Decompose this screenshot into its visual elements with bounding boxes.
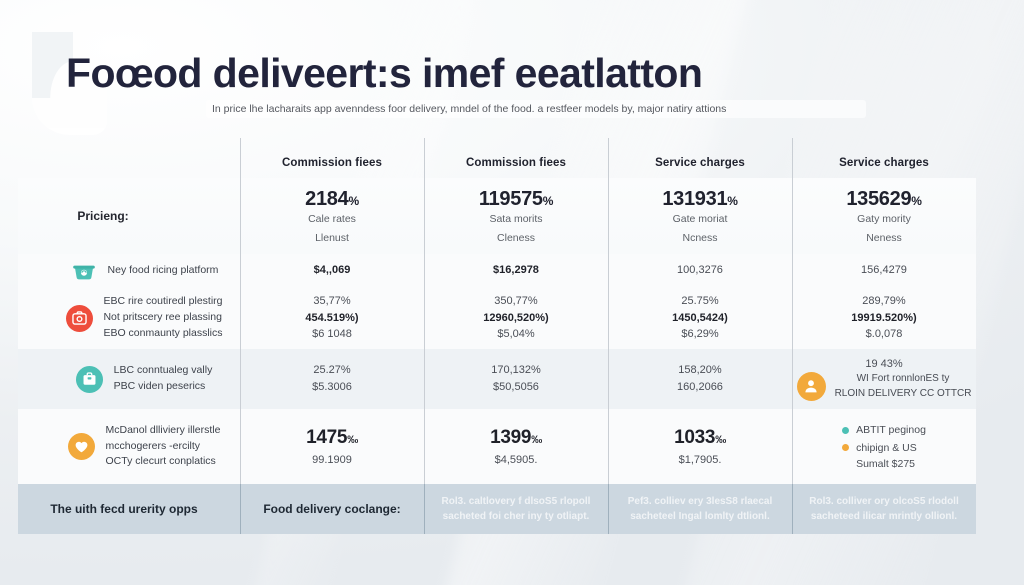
stat-subtitle-2: Ncness bbox=[682, 232, 717, 244]
percent-unit: % bbox=[543, 194, 553, 208]
value-list: 25.27% $5.3006 bbox=[312, 363, 352, 395]
value: 25.27% bbox=[313, 363, 350, 378]
page-title: Foœod deliveert:s imef eeatlatton bbox=[66, 50, 702, 97]
footer-cell-label: Food delivery coclange: bbox=[263, 502, 400, 516]
legend-label: ABTIT peginog bbox=[856, 423, 926, 437]
data-cell: 25.27% $5.3006 bbox=[240, 349, 424, 409]
column-header-label: Commission fiees bbox=[466, 157, 566, 169]
legend-dot-icon bbox=[842, 444, 849, 451]
stats-cell-2: 119575% Sata morits Cleness bbox=[424, 178, 608, 254]
value: 1450,5424) bbox=[672, 311, 728, 326]
data-cell: 156,4279 bbox=[792, 254, 976, 287]
value: $16,2978 bbox=[493, 263, 539, 278]
row-label-lines: LBC conntualeg vally PBC viden peserics bbox=[114, 364, 213, 394]
value-list: 1399‰ $4,5905. bbox=[490, 425, 542, 467]
page-subtitle: In price lhe lacharaits app avenndess fo… bbox=[206, 100, 866, 118]
table-header-row: Commission fiees Commission fiees Servic… bbox=[18, 138, 976, 178]
permille-unit: ‰ bbox=[531, 434, 542, 446]
data-cell: 25.75% 1450,5424) $6,29% bbox=[608, 287, 792, 349]
value: 170,132% bbox=[491, 363, 541, 378]
value-list: $16,2978 bbox=[493, 263, 539, 278]
stat-subtitle-2: Neness bbox=[866, 232, 902, 244]
value: 454.519%) bbox=[305, 311, 358, 326]
row-label-cell: McDanol dlliviery illerstle mcchogerers … bbox=[18, 409, 240, 484]
row-icon bbox=[65, 304, 93, 332]
poster-canvas: Foœod deliveert:s imef eeatlatton In pri… bbox=[0, 0, 1024, 585]
value-list: 158,20% 160,2066 bbox=[677, 363, 723, 395]
legend-dot-icon bbox=[842, 427, 849, 434]
data-cell: 158,20% 160,2066 bbox=[608, 349, 792, 409]
stat-subtitle: Cale rates bbox=[308, 213, 356, 225]
row-label-line: OCTy clecurt conplatics bbox=[106, 455, 221, 469]
value-list: 19 43% bbox=[865, 357, 902, 372]
value: $4,5905. bbox=[495, 453, 538, 468]
value: 99.1909 bbox=[312, 453, 352, 468]
value-list: 25.75% 1450,5424) $6,29% bbox=[672, 294, 728, 343]
value: 289,79% bbox=[862, 294, 905, 309]
data-cell: 1399‰ $4,5905. bbox=[424, 409, 608, 484]
stat-subtitle: Sata morits bbox=[489, 213, 542, 225]
row-label-line: Not pritscery ree plassing bbox=[103, 311, 222, 325]
footer-line: sacheteed ilicar mrintly ollionl. bbox=[811, 510, 957, 524]
value: 100,3276 bbox=[677, 263, 723, 278]
value: $1,7905. bbox=[679, 453, 722, 468]
pricing-label: Pricieng: bbox=[28, 209, 230, 223]
data-cell: 35,77% 454.519%) $6 1048 bbox=[240, 287, 424, 349]
column-header-label: Service charges bbox=[655, 157, 745, 169]
value: 19 43% bbox=[865, 357, 902, 372]
row-label-line: EBO conmaunty plasslics bbox=[103, 327, 222, 341]
column-header-3: Service charges bbox=[608, 138, 792, 178]
stats-cell-3: 131931% Gate moriat Ncness bbox=[608, 178, 792, 254]
value: $4,,069 bbox=[314, 263, 351, 278]
footer-text-lines: Pef3. colliev ery 3lesS8 rlaecal sachete… bbox=[628, 495, 773, 524]
value: 160,2066 bbox=[677, 380, 723, 395]
stat-value: 131931% bbox=[662, 188, 737, 210]
table-row[interactable]: McDanol dlliviery illerstle mcchogerers … bbox=[18, 409, 976, 484]
column-header-label: Commission fiees bbox=[282, 157, 382, 169]
value: 350,77% bbox=[494, 294, 537, 309]
row-label-cell: Ney food ricing platform bbox=[18, 254, 240, 287]
value: 35,77% bbox=[313, 294, 350, 309]
value: 25.75% bbox=[681, 294, 718, 309]
table-footer-row: The uith fecd urerity opps Food delivery… bbox=[18, 484, 976, 534]
data-cell: $16,2978 bbox=[424, 254, 608, 287]
value-list: 1475‰ 99.1909 bbox=[306, 425, 358, 467]
avatar-line: RLOIN DELIVERY CC OTTCR bbox=[835, 387, 972, 401]
row-label-lines: McDanol dlliviery illerstle mcchogerers … bbox=[106, 424, 221, 470]
value: $5.3006 bbox=[312, 380, 352, 395]
table-row[interactable]: Ney food ricing platform $4,,069 $16,297… bbox=[18, 254, 976, 287]
data-cell: $4,,069 bbox=[240, 254, 424, 287]
footer-cell-2: Rol3. caltlovery f dlsoS5 rlopoll sachet… bbox=[424, 484, 608, 534]
value: 19919.520%) bbox=[851, 311, 916, 326]
value: $6 1048 bbox=[312, 327, 352, 342]
row-label-line: McDanol dlliviery illerstle bbox=[106, 424, 221, 438]
data-cell-avatar: 19 43% WI Fort ronnlonES ty RLOIN DELIVE… bbox=[792, 349, 976, 409]
value: $50,5056 bbox=[493, 380, 539, 395]
avatar-text-lines: WI Fort ronnlonES ty RLOIN DELIVERY CC O… bbox=[835, 372, 972, 400]
avatar bbox=[797, 372, 826, 401]
row-label-line: Ney food ricing platform bbox=[108, 264, 219, 278]
footer-label: The uith fecd urerity opps bbox=[50, 502, 197, 516]
bag-icon bbox=[76, 366, 103, 393]
row-label-cell: LBC conntualeg vally PBC viden peserics bbox=[18, 349, 240, 409]
header-corner-cell bbox=[18, 138, 240, 178]
legend-item: chipign & US bbox=[842, 441, 917, 455]
stat-value: 2184% bbox=[305, 188, 359, 210]
value: 158,20% bbox=[678, 363, 721, 378]
column-header-4: Service charges bbox=[792, 138, 976, 178]
value: $6,29% bbox=[681, 327, 718, 342]
data-cell: 1475‰ 99.1909 bbox=[240, 409, 424, 484]
comparison-table: Commission fiees Commission fiees Servic… bbox=[18, 138, 976, 534]
avatar-line: WI Fort ronnlonES ty bbox=[835, 372, 972, 386]
legend-note: Sumalt $275 bbox=[842, 458, 915, 470]
stat-value: 135629% bbox=[846, 188, 921, 210]
row-label-line: PBC viden peserics bbox=[114, 380, 213, 394]
data-cell: 170,132% $50,5056 bbox=[424, 349, 608, 409]
footer-line: Rol3. colliver ory olcoS5 rlodoll bbox=[809, 495, 958, 509]
footer-cell-4: Rol3. colliver ory olcoS5 rlodoll sachet… bbox=[792, 484, 976, 534]
footer-label-cell: The uith fecd urerity opps bbox=[18, 484, 240, 534]
row-label-line: EBC rire coutiredl plestirg bbox=[103, 295, 222, 309]
row-label-cell: EBC rire coutiredl plestirg Not pritscer… bbox=[18, 287, 240, 349]
table-row[interactable]: EBC rire coutiredl plestirg Not pritscer… bbox=[18, 287, 976, 349]
footer-text-lines: Rol3. colliver ory olcoS5 rlodoll sachet… bbox=[809, 495, 958, 524]
column-header-label: Service charges bbox=[839, 157, 929, 169]
value-list: 1033‰ $1,7905. bbox=[674, 425, 726, 467]
column-header-1: Commission fiees bbox=[240, 138, 424, 178]
legend-item: ABTIT peginog bbox=[842, 423, 926, 437]
value-list: 156,4279 bbox=[861, 263, 907, 278]
percent-unit: % bbox=[727, 194, 737, 208]
data-cell: 1033‰ $1,7905. bbox=[608, 409, 792, 484]
data-cell: 289,79% 19919.520%) $.0,078 bbox=[792, 287, 976, 349]
stat-subtitle-2: Cleness bbox=[497, 232, 535, 244]
value: $.0,078 bbox=[866, 327, 903, 342]
pot-icon bbox=[71, 260, 97, 282]
footer-line: sacheted foi cher iny ty otliapt. bbox=[443, 510, 590, 524]
camera-bag-icon bbox=[66, 305, 93, 332]
percent-unit: % bbox=[348, 194, 358, 208]
value: 156,4279 bbox=[861, 263, 907, 278]
row-label-lines: Ney food ricing platform bbox=[108, 264, 219, 278]
legend-label: chipign & US bbox=[856, 441, 917, 455]
value-list: 350,77% 12960,520%) $5,04% bbox=[483, 294, 548, 343]
heart-icon bbox=[68, 433, 95, 460]
permille-unit: ‰ bbox=[347, 434, 358, 446]
value-list: 170,132% $50,5056 bbox=[491, 363, 541, 395]
stat-subtitle-2: Llenust bbox=[315, 232, 349, 244]
footer-cell-1: Food delivery coclange: bbox=[240, 484, 424, 534]
value-list: $4,,069 bbox=[314, 263, 351, 278]
footer-line: Rol3. caltlovery f dlsoS5 rlopoll bbox=[442, 495, 591, 509]
stats-cell-1: 2184% Cale rates Llenust bbox=[240, 178, 424, 254]
stats-cell-4: 135629% Gaty mority Neness bbox=[792, 178, 976, 254]
column-header-2: Commission fiees bbox=[424, 138, 608, 178]
legend: ABTIT peginog chipign & US Sumalt $275 bbox=[842, 423, 926, 469]
stat-value: 119575% bbox=[479, 188, 553, 210]
table-stats-row: Pricieng: 2184% Cale rates Llenust 11957… bbox=[18, 178, 976, 254]
data-cell-legend: ABTIT peginog chipign & US Sumalt $275 bbox=[792, 409, 976, 484]
footer-line: sacheteel Ingal lomlty dtlionl. bbox=[630, 510, 769, 524]
permille-unit: ‰ bbox=[715, 434, 726, 446]
stat-subtitle: Gate moriat bbox=[673, 213, 728, 225]
data-cell: 350,77% 12960,520%) $5,04% bbox=[424, 287, 608, 349]
value: 1475‰ bbox=[306, 425, 358, 451]
percent-unit: % bbox=[911, 194, 921, 208]
value: $5,04% bbox=[497, 327, 534, 342]
row-label-line: mcchogerers -ercilty bbox=[106, 440, 221, 454]
value-list: 35,77% 454.519%) $6 1048 bbox=[305, 294, 358, 343]
row-icon bbox=[76, 365, 104, 393]
value: 1399‰ bbox=[490, 425, 542, 451]
footer-cell-3: Pef3. colliev ery 3lesS8 rlaecal sachete… bbox=[608, 484, 792, 534]
value-list: 100,3276 bbox=[677, 263, 723, 278]
row-icon bbox=[68, 433, 96, 461]
row-label-line: LBC conntualeg vally bbox=[114, 364, 213, 378]
footer-text-lines: Rol3. caltlovery f dlsoS5 rlopoll sachet… bbox=[442, 495, 591, 524]
stat-subtitle: Gaty mority bbox=[857, 213, 911, 225]
stats-row-label-cell: Pricieng: bbox=[18, 178, 240, 254]
table-row[interactable]: LBC conntualeg vally PBC viden peserics … bbox=[18, 349, 976, 409]
value: 1033‰ bbox=[674, 425, 726, 451]
row-label-lines: EBC rire coutiredl plestirg Not pritscer… bbox=[103, 295, 222, 341]
row-icon bbox=[70, 257, 98, 285]
value: 12960,520%) bbox=[483, 311, 548, 326]
data-cell: 100,3276 bbox=[608, 254, 792, 287]
footer-line: Pef3. colliev ery 3lesS8 rlaecal bbox=[628, 495, 773, 509]
value-list: 289,79% 19919.520%) $.0,078 bbox=[851, 294, 916, 343]
avatar-block: WI Fort ronnlonES ty RLOIN DELIVERY CC O… bbox=[797, 372, 972, 401]
